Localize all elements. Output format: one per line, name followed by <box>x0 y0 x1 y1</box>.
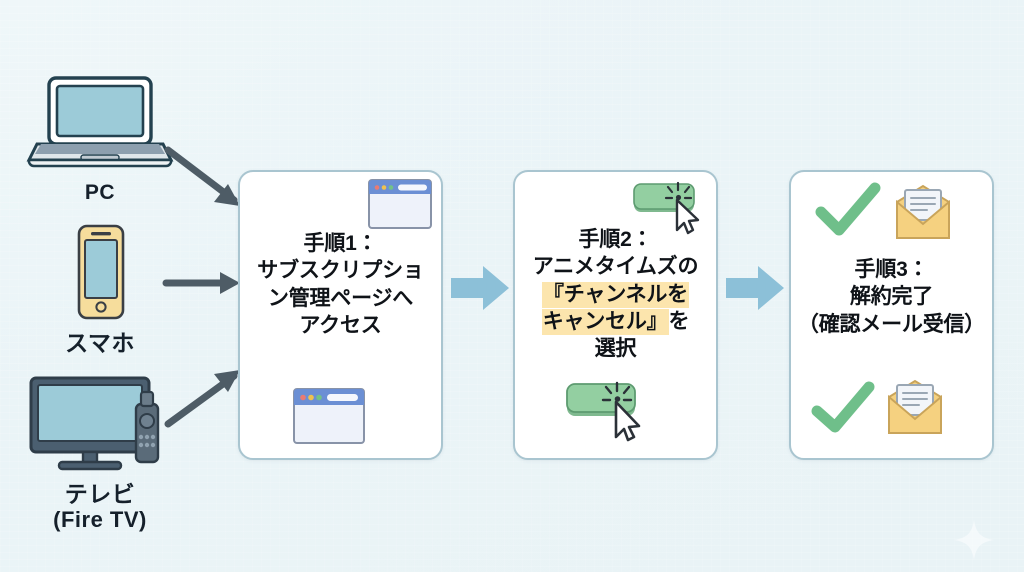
diagram-canvas: PC スマホ <box>0 0 1024 572</box>
step-card-1-text: 手順1： サブスクリプショ ン管理ページへ アクセス <box>240 230 441 339</box>
television-icon <box>5 372 195 479</box>
device-smartphone: スマホ <box>5 222 195 356</box>
step-card-3-text: 手順3： 解約完了 （確認メール受信） <box>791 256 992 338</box>
device-smartphone-label: スマホ <box>5 330 195 356</box>
check-envelope-icon <box>813 182 973 249</box>
highlighted-text: 『チャンネルを <box>542 282 689 308</box>
highlighted-text: キャンセル』 <box>542 309 669 335</box>
device-pc-label: PC <box>5 181 195 205</box>
device-television: テレビ (Fire TV) <box>5 372 195 533</box>
browser-window-icon <box>292 387 366 450</box>
smartphone-icon <box>5 222 195 327</box>
step-card-3: 手順3： 解約完了 （確認メール受信） <box>789 170 994 460</box>
click-button-cursor-icon <box>563 377 653 450</box>
device-television-label: テレビ (Fire TV) <box>5 481 195 533</box>
check-envelope-icon <box>809 377 969 444</box>
block-arrow-right-icon <box>449 262 511 319</box>
four-point-star-icon <box>952 518 996 567</box>
laptop-icon <box>5 72 195 177</box>
step-card-2-text: 手順2： アニメタイムズの 『チャンネルを キャンセル』を 選択 <box>515 226 716 362</box>
block-arrow-right-icon <box>724 262 786 319</box>
step-card-1: 手順1： サブスクリプショ ン管理ページへ アクセス <box>238 170 443 460</box>
step-card-2: 手順2： アニメタイムズの 『チャンネルを キャンセル』を 選択 <box>513 170 718 460</box>
device-pc: PC <box>5 72 195 205</box>
browser-window-icon <box>367 178 433 235</box>
